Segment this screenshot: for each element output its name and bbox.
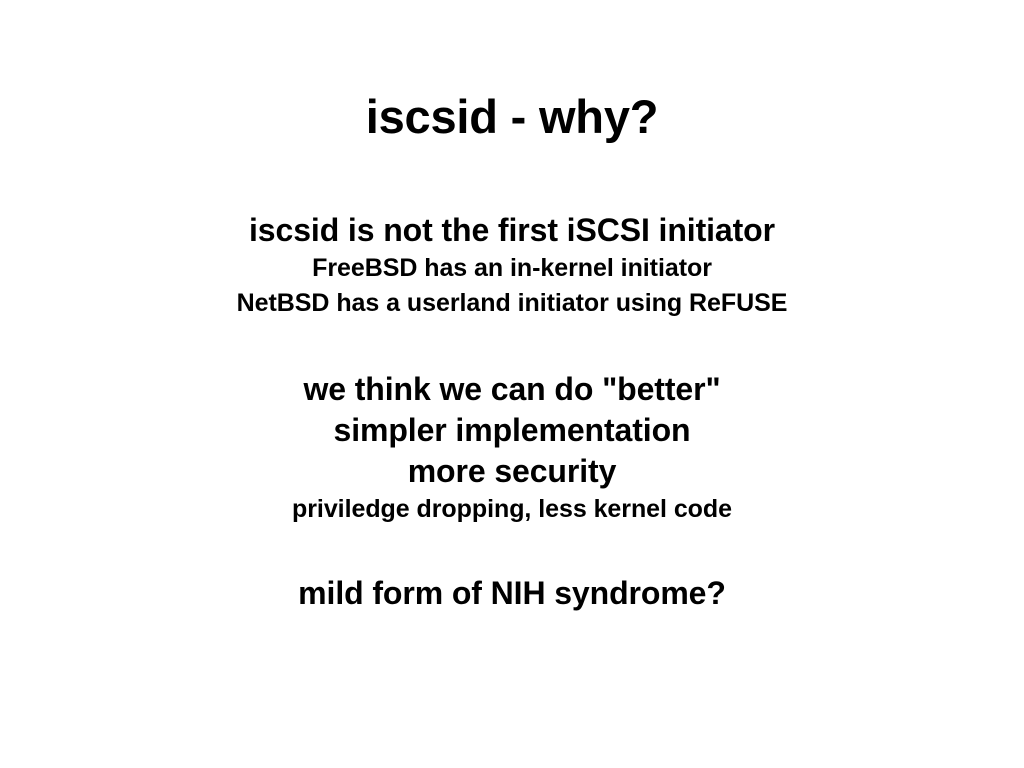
slide-line: simpler implementation bbox=[0, 410, 1024, 451]
text-block-prior-art: iscsid is not the first iSCSI initiator … bbox=[0, 210, 1024, 321]
block-spacer bbox=[0, 321, 1024, 369]
text-block-motivation: we think we can do "better" simpler impl… bbox=[0, 369, 1024, 527]
slide-title: iscsid - why? bbox=[0, 92, 1024, 142]
block-spacer bbox=[0, 527, 1024, 573]
slide-line: mild form of NIH syndrome? bbox=[0, 573, 1024, 614]
slide-body: iscsid is not the first iSCSI initiator … bbox=[0, 210, 1024, 614]
text-block-closing-question: mild form of NIH syndrome? bbox=[0, 573, 1024, 614]
slide-line: we think we can do "better" bbox=[0, 369, 1024, 410]
slide-line: FreeBSD has an in-kernel initiator bbox=[0, 251, 1024, 286]
slide-line: iscsid is not the first iSCSI initiator bbox=[0, 210, 1024, 251]
slide-line: more security bbox=[0, 451, 1024, 492]
presentation-slide: iscsid - why? iscsid is not the first iS… bbox=[0, 0, 1024, 768]
slide-line: NetBSD has a userland initiator using Re… bbox=[0, 286, 1024, 321]
slide-line: priviledge dropping, less kernel code bbox=[0, 492, 1024, 527]
